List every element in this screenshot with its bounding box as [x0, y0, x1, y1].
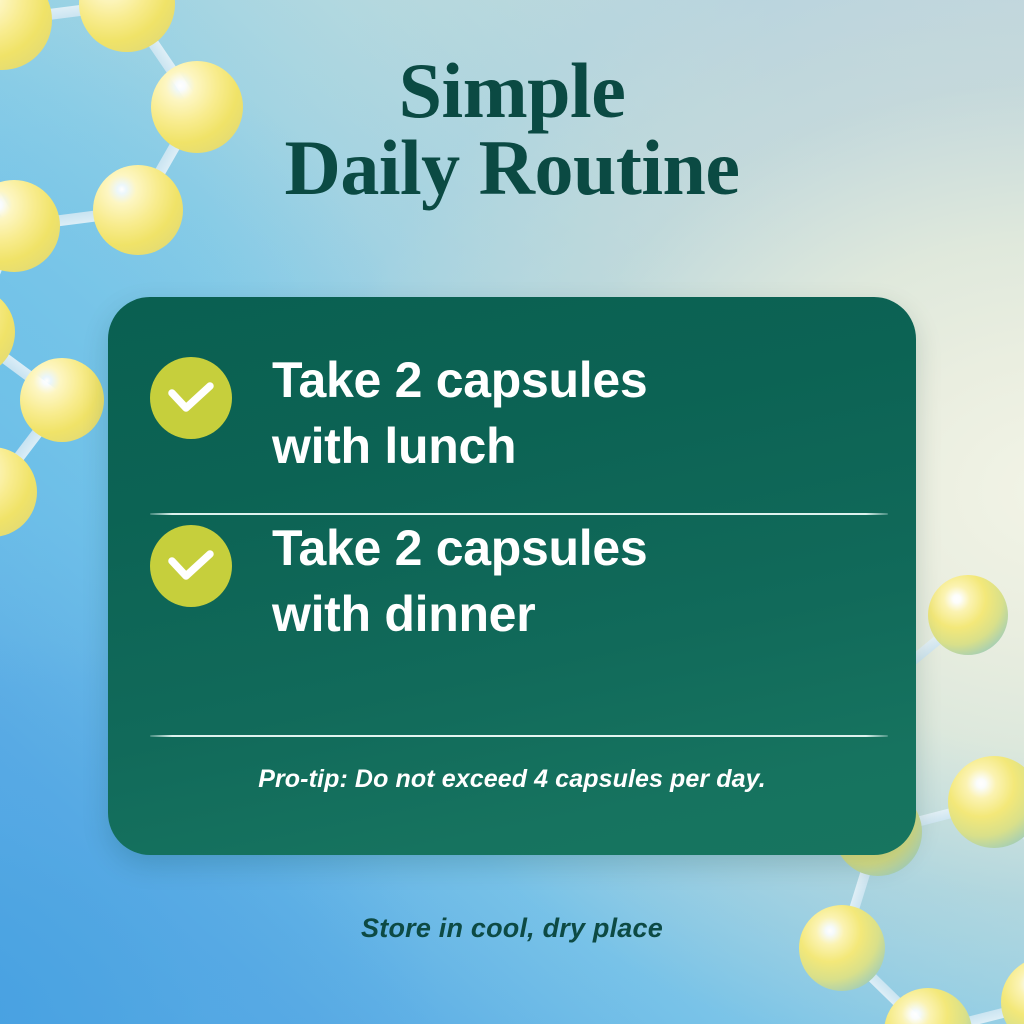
list-item-text: Take 2 capsules with dinner — [272, 515, 647, 647]
routine-card: Take 2 capsules with lunch Take 2 capsul… — [108, 297, 916, 855]
poster-canvas: Simple Daily Routine Take 2 capsules wit… — [0, 0, 1024, 1024]
title-line-2: Daily Routine — [0, 129, 1024, 206]
item-2-line-2: with dinner — [272, 581, 647, 647]
check-icon — [150, 525, 232, 607]
item-1-line-1: Take 2 capsules — [272, 347, 647, 413]
page-title: Simple Daily Routine — [0, 52, 1024, 206]
item-2-line-1: Take 2 capsules — [272, 515, 647, 581]
storage-note: Store in cool, dry place — [0, 913, 1024, 944]
divider-2 — [150, 735, 888, 737]
routine-list: Take 2 capsules with lunch Take 2 capsul… — [150, 297, 888, 647]
check-icon — [150, 357, 232, 439]
pro-tip-text: Pro-tip: Do not exceed 4 capsules per da… — [108, 765, 916, 794]
list-item: Take 2 capsules with dinner — [150, 479, 888, 647]
divider-1 — [150, 513, 888, 515]
list-item: Take 2 capsules with lunch — [150, 297, 888, 479]
title-line-1: Simple — [399, 47, 626, 134]
item-1-line-2: with lunch — [272, 413, 647, 479]
list-item-text: Take 2 capsules with lunch — [272, 347, 647, 479]
